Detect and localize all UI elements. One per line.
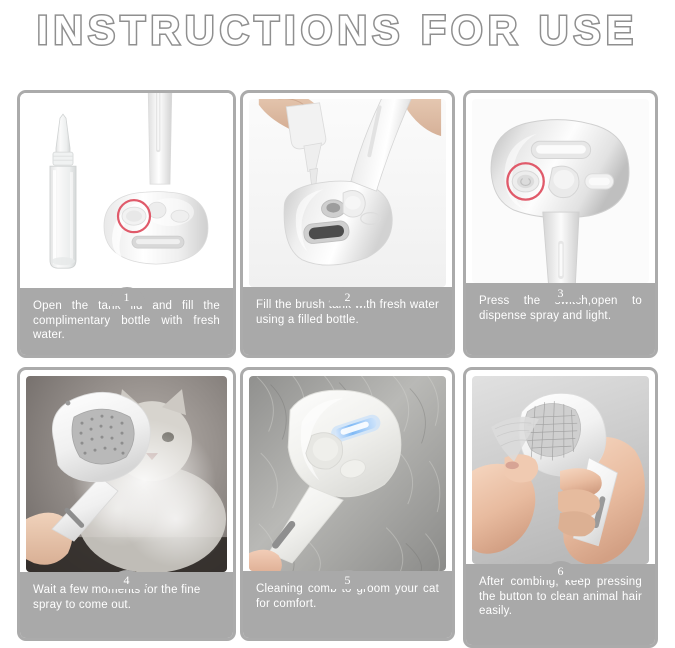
step-panel-4: 4 Wait a few moments for the fine spray …	[17, 367, 236, 641]
page-title: INSTRUCTIONS FOR USE	[37, 8, 638, 53]
step-panel-3: 3 Press the switch,open to dispense spra…	[463, 90, 658, 358]
step-photo-3	[472, 99, 649, 283]
step-photo-5	[249, 376, 446, 571]
step-panel-1: 1 Open the tank lid and fill the complim…	[17, 90, 236, 358]
step-photo-1	[20, 93, 233, 288]
hand-filling-tank-illustration	[249, 99, 446, 287]
step-card-3: 3 Press the switch,open to dispense spra…	[463, 90, 658, 358]
step-photo-6	[472, 376, 649, 564]
step-panel-5: 5 Cleaning comb to groom your cat for co…	[240, 367, 455, 641]
step-photo-2	[249, 99, 446, 287]
step-panel-6: 6 After combing, keep pressing the butto…	[463, 367, 658, 648]
step-panel-2: 2 Fill the brush tank with fresh water u…	[240, 90, 455, 358]
step-photo-4	[26, 376, 227, 572]
switch-closeup-illustration	[472, 99, 649, 283]
step-card-2: 2 Fill the brush tank with fresh water u…	[240, 90, 455, 358]
step-card-6: 6 After combing, keep pressing the butto…	[463, 367, 658, 648]
brush-on-fur-illustration	[249, 376, 446, 571]
page-title-container: INSTRUCTIONS FOR USE	[0, 8, 675, 53]
step-card-1: 1 Open the tank lid and fill the complim…	[17, 90, 236, 358]
bottle-and-brush-illustration	[20, 93, 233, 288]
cleaning-hair-illustration	[472, 376, 649, 564]
spray-on-cat-illustration	[26, 376, 227, 572]
step-card-5: 5 Cleaning comb to groom your cat for co…	[240, 367, 455, 648]
step-card-4: 4 Wait a few moments for the fine spray …	[17, 367, 236, 648]
instruction-steps-grid: 1 Open the tank lid and fill the complim…	[17, 90, 658, 648]
